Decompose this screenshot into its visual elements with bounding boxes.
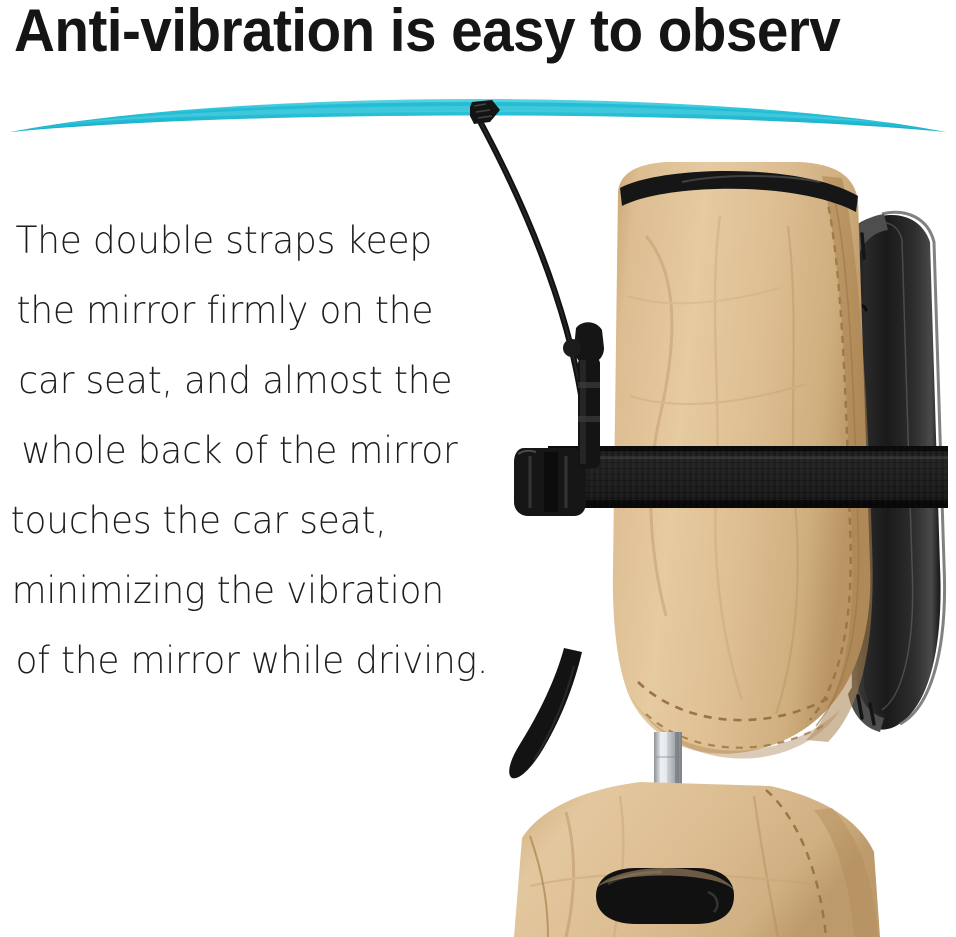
body-line-3: car seat, and almost the [0,346,471,416]
page-title: Anti-vibration is easy to observ [14,0,840,64]
body-copy: The double straps keep the mirror firmly… [0,206,486,696]
body-line-2: the mirror firmly on the [0,276,471,346]
main-webbing-strap [548,446,948,508]
strap-buckle [514,448,586,516]
image-canvas: Anti-vibration is easy to observ The dou… [0,0,956,937]
car-headrest-mirror-photo [470,96,956,937]
body-line-7: of the mirror while driving. [0,626,471,696]
body-line-6: minimizing the vibration [0,556,471,626]
body-line-5: touches the car seat, [0,486,471,556]
body-line-1: The double straps keep [0,206,471,276]
upper-strap-cord [470,100,588,468]
post-guide-lower [596,868,734,924]
strap-tail [509,648,582,778]
body-line-4: whole back of the mirror [0,416,471,486]
